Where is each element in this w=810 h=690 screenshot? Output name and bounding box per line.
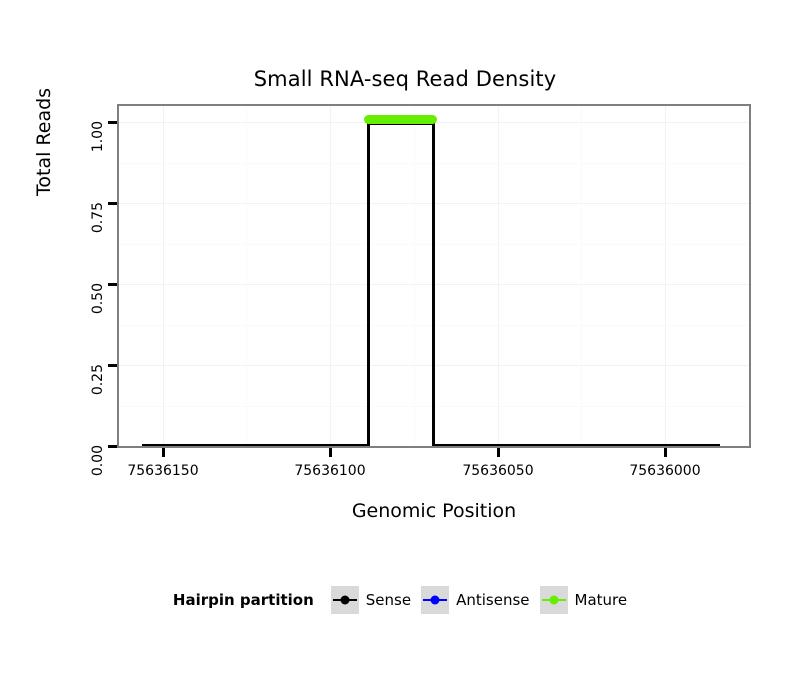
legend: Hairpin partition SenseAntisenseMature (0, 586, 810, 614)
legend-key-icon (540, 586, 568, 614)
chart-figure: Small RNA-seq Read Density 7563615075636… (0, 0, 810, 690)
legend-entry-mature[interactable]: Mature (540, 586, 628, 614)
y-tick-mark (108, 364, 117, 367)
legend-key-dot (340, 596, 349, 605)
legend-key-dot (431, 596, 440, 605)
sense-riser-right (432, 122, 435, 446)
plot-area (119, 106, 749, 446)
legend-key-icon (421, 586, 449, 614)
legend-label: Antisense (456, 591, 529, 609)
y-tick-mark (108, 283, 117, 286)
gridline-x-major (498, 106, 499, 446)
mature-segment (364, 115, 437, 124)
legend-entry-sense[interactable]: Sense (331, 586, 411, 614)
x-tick-mark (497, 448, 500, 457)
legend-label: Mature (575, 591, 628, 609)
gridline-x-minor (581, 106, 582, 446)
legend-key-icon (331, 586, 359, 614)
gridline-x-major (330, 106, 331, 446)
legend-entries: SenseAntisenseMature (331, 586, 637, 614)
sense-baseline-right (433, 444, 720, 446)
x-tick-label: 75636050 (462, 463, 533, 479)
x-tick-mark (162, 448, 165, 457)
gridline-x-minor (414, 106, 415, 446)
y-axis-title: Total Reads (33, 88, 55, 196)
legend-key-dot (549, 596, 558, 605)
y-tick-mark (108, 445, 117, 448)
sense-riser-left (367, 122, 370, 446)
x-tick-mark (329, 448, 332, 457)
y-tick-mark (108, 202, 117, 205)
legend-title: Hairpin partition (173, 591, 314, 609)
x-tick-label: 75636000 (629, 463, 700, 479)
gridline-x-major (665, 106, 666, 446)
x-tick-label: 75636100 (294, 463, 365, 479)
legend-label: Sense (366, 591, 411, 609)
x-tick-mark (664, 448, 667, 457)
chart-title: Small RNA-seq Read Density (0, 67, 810, 91)
gridline-x-minor (246, 106, 247, 446)
x-tick-label: 75636150 (127, 463, 198, 479)
x-axis-title: Genomic Position (117, 500, 751, 522)
gridline-x-major (163, 106, 164, 446)
sense-baseline-left (142, 444, 369, 446)
legend-entry-antisense[interactable]: Antisense (421, 586, 529, 614)
plot-panel (117, 104, 751, 448)
y-tick-mark (108, 121, 117, 124)
